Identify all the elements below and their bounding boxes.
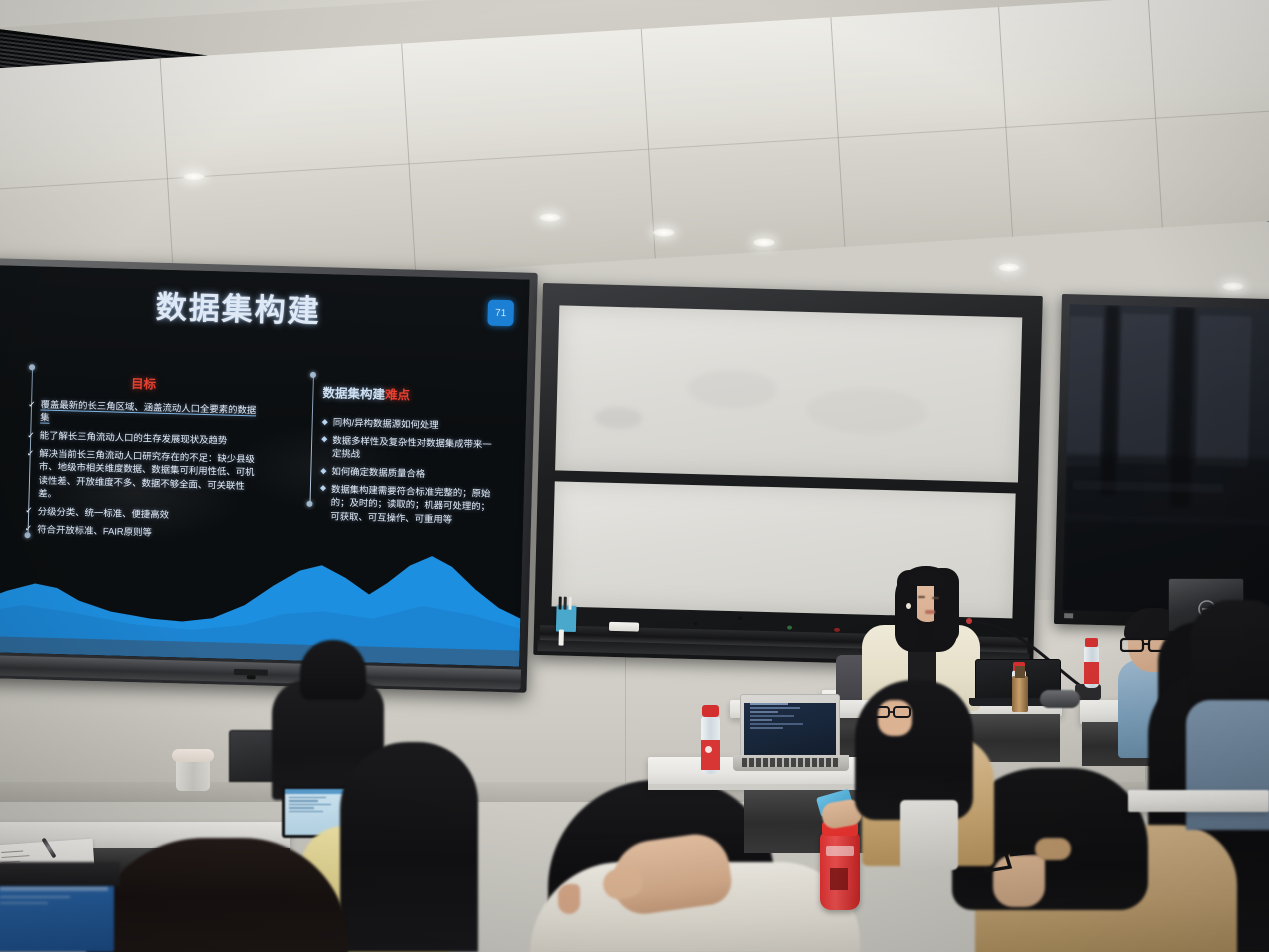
display-reflection <box>1066 316 1104 467</box>
marker-black[interactable] <box>558 597 561 610</box>
bottle-logo-icon <box>705 746 712 753</box>
right-column-heading: 数据集构建难点 <box>322 382 497 406</box>
left-bullet-2: ✓ 能了解长三角流动人口的生存发展现状及趋势 <box>27 428 257 448</box>
marker-black-2[interactable] <box>563 597 566 610</box>
lecture-hall-photo: 数据集构建 71 目标 ✓ 覆盖最新的长三角区域、涵盖流动人口全要素的数据集 ✓… <box>0 0 1269 952</box>
right-bullet-4-text: 数据集构建需要符合标准完整的；原始的；及时的；读取的；机器可处理的；可获取、可互… <box>330 482 495 526</box>
water-bottle-right-cap <box>1085 638 1098 647</box>
ir-sensor <box>247 675 256 679</box>
blue-marker-holder[interactable] <box>556 605 577 632</box>
marker-spare[interactable] <box>559 630 564 646</box>
recessed-downlight <box>753 238 775 247</box>
left-bullet-2-text: 能了解长三角流动人口的生存发展现状及趋势 <box>40 429 258 448</box>
audience-member-yellow-sweater-hair <box>855 680 973 820</box>
left-bullet-4: ✓ 分级分类、统一标准、便捷高效 <box>25 504 255 524</box>
left-bullet-5: ✓ 符合开放标准、FAIR原则等 <box>25 522 255 542</box>
recessed-downlight <box>1222 282 1244 291</box>
left-bullet-3-text: 解决当前长三角流动人口研究存在的不足：缺少县级市、地级市相关维度数据、数据集可利… <box>38 447 257 506</box>
slide-title: 数据集构建 <box>155 292 321 327</box>
ledge-item <box>694 622 697 625</box>
ear <box>558 884 580 914</box>
whiteboard-eraser[interactable] <box>609 622 639 632</box>
ledge-marker-red <box>834 628 840 632</box>
water-bottle-center-cap <box>702 705 719 717</box>
right-bullet-3-text: 如何确定数据质量合格 <box>331 464 495 482</box>
diamond-bullet-icon: ◆ <box>320 464 327 478</box>
checkmark-icon: ✓ <box>27 428 35 442</box>
right-bullet-2: ◆ 数据多样性及复杂性对数据集成带来一定挑战 <box>321 433 497 464</box>
hoodie-hood <box>1035 838 1071 860</box>
diamond-bullet-icon: ◆ <box>319 482 326 522</box>
bottle-label-mark <box>830 868 848 890</box>
audience-member-dark-coat-hair <box>300 640 366 700</box>
recessed-downlight <box>653 228 675 237</box>
slide-left-column: 目标 ✓ 覆盖最新的长三角区域、涵盖流动人口全要素的数据集 ✓ 能了解长三角流动… <box>24 370 259 546</box>
screen-panel: 数据集构建 71 目标 ✓ 覆盖最新的长三角区域、涵盖流动人口全要素的数据集 ✓… <box>0 265 530 666</box>
recessed-downlight <box>183 172 205 181</box>
left-bullet-3: ✓ 解决当前长三角流动人口研究存在的不足：缺少县级市、地级市相关维度数据、数据集… <box>25 446 256 506</box>
whiteboard-smudge <box>594 406 643 429</box>
chair-back <box>900 800 958 870</box>
presenter-fringe <box>909 570 945 586</box>
left-bullet-5-text: 符合开放标准、FAIR原则等 <box>37 522 255 541</box>
audience-member-left-ponytail-hair <box>340 742 478 952</box>
bottle-highlight <box>826 846 854 856</box>
audience-desk-far-right <box>1128 790 1269 812</box>
recessed-downlight <box>539 213 561 222</box>
headset[interactable] <box>1040 690 1080 708</box>
right-bullet-2-text: 数据多样性及复杂性对数据集成带来一定挑战 <box>332 433 497 464</box>
laptop-foreground-screen[interactable] <box>0 880 114 952</box>
right-bullet-3: ◆ 如何确定数据质量合格 <box>320 464 495 482</box>
coffee-tumbler-lid <box>172 749 214 762</box>
diamond-bullet-icon: ◆ <box>321 433 328 460</box>
presenter-eye-right <box>932 597 939 599</box>
right-bullet-4: ◆ 数据集构建需要符合标准完整的；原始的；及时的；读取的；机器可处理的；可获取、… <box>319 482 495 527</box>
left-bullet-1-text: 覆盖最新的长三角区域、涵盖流动人口全要素的数据集 <box>40 398 258 431</box>
whiteboard-upper-panel[interactable] <box>555 305 1022 482</box>
laptop-center-screen[interactable] <box>744 703 836 757</box>
right-heading-blue: 数据集构建 <box>322 386 385 402</box>
ledge-item <box>737 616 742 620</box>
laptop-center-lid[interactable] <box>740 694 840 756</box>
water-bottle-center-label <box>701 740 720 770</box>
display-reflection <box>1196 315 1252 466</box>
amber-bottle-neck <box>1015 666 1025 678</box>
presenter-earring <box>906 603 911 609</box>
checkmark-icon: ✓ <box>28 397 36 424</box>
presenter-eye-left <box>918 596 925 598</box>
checkmark-icon: ✓ <box>25 522 33 536</box>
laptop-center-base[interactable] <box>733 755 849 771</box>
left-bullet-4-text: 分级分类、统一标准、便捷高效 <box>38 504 256 523</box>
recessed-downlight <box>998 263 1020 272</box>
laptop-foreground-keyboard[interactable] <box>0 862 120 886</box>
diamond-bullet-icon: ◆ <box>322 415 329 429</box>
marker-white[interactable] <box>568 597 571 610</box>
display-reflection <box>1118 313 1170 464</box>
coffee-tumbler[interactable] <box>176 757 210 791</box>
glasses-icon-yellow-sweater <box>872 704 916 722</box>
checkmark-icon: ✓ <box>25 446 34 500</box>
connector-dot-right-bottom <box>306 501 312 507</box>
right-heading-red: 难点 <box>385 388 410 403</box>
amber-bottle[interactable] <box>1012 676 1028 712</box>
whiteboard-smudge <box>687 369 778 409</box>
presentation-slide: 数据集构建 71 目标 ✓ 覆盖最新的长三角区域、涵盖流动人口全要素的数据集 ✓… <box>0 265 530 666</box>
presenter-mouth <box>925 610 935 614</box>
water-bottle-right-label <box>1084 662 1099 684</box>
laptop-keyboard[interactable] <box>742 758 840 767</box>
whiteboard-smudge <box>806 387 927 435</box>
ledge-marker-green <box>787 626 792 630</box>
left-bullet-1: ✓ 覆盖最新的长三角区域、涵盖流动人口全要素的数据集 <box>28 397 259 430</box>
display-panel <box>1062 304 1269 615</box>
projection-screen-left[interactable]: 数据集构建 71 目标 ✓ 覆盖最新的长三角区域、涵盖流动人口全要素的数据集 ✓… <box>0 258 538 693</box>
checkmark-icon: ✓ <box>25 504 33 518</box>
slide-number-badge: 71 <box>487 300 514 327</box>
slide-right-column: 数据集构建难点 ◆ 同构/异构数据源如何处理 ◆ 数据多样性及复杂性对数据集成带… <box>319 382 498 531</box>
